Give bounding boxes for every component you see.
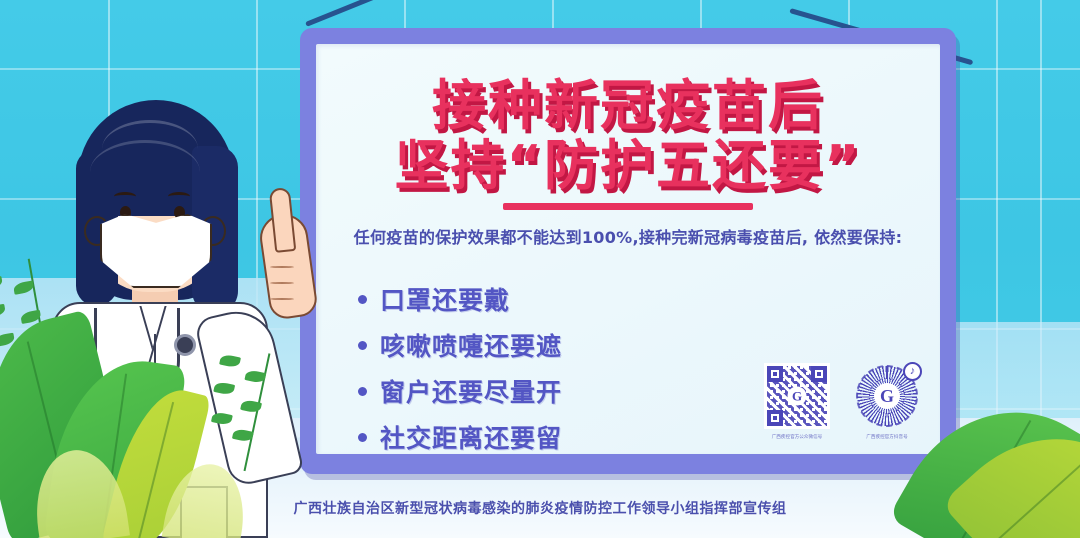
hand-knuckle-line xyxy=(270,298,294,300)
bullet-column-left: 口罩还要戴 咳嗽喷嚏还要遮 窗户还要尽量开 xyxy=(358,276,620,414)
qr-center-logo: G xyxy=(874,383,900,409)
headline-line-1: 接种新冠疫苗后 xyxy=(316,76,940,136)
bullet-dot-icon xyxy=(358,341,367,350)
bullet-column-right: 社交距离还要留 双手还要经常洗 xyxy=(358,414,614,454)
list-item-label: 社交距离还要留 xyxy=(380,419,562,454)
headline-underline xyxy=(503,203,753,210)
bullet-dot-icon xyxy=(358,295,367,304)
qr-caption: 广西疾控官方抖音号 xyxy=(853,433,921,439)
list-item-label: 咳嗽喷嚏还要遮 xyxy=(380,327,562,363)
hand-knuckle-line xyxy=(270,282,294,284)
qr-finder-top-right-icon xyxy=(811,366,827,382)
list-item: 窗户还要尽量开 xyxy=(358,368,620,414)
qr-caption: 广西疾控官方公众微信号 xyxy=(763,433,831,439)
music-note-icon: ♪ xyxy=(903,362,922,381)
list-item: 咳嗽喷嚏还要遮 xyxy=(358,322,620,368)
whiteboard: 接种新冠疫苗后 坚持“防护五还要” 任何疫苗的保护效果都不能达到100%,接种完… xyxy=(300,28,956,474)
qr-code-wechat[interactable]: G 广西疾控官方公众微信号 xyxy=(760,363,834,440)
subtitle-text: 任何疫苗的保护效果都不能达到100%,接种完新冠病毒疫苗后, 依然要保持: xyxy=(316,224,940,248)
headline-line-2: 坚持“防护五还要” xyxy=(316,136,940,196)
qr-code-image-icon[interactable]: G xyxy=(764,363,830,429)
bullet-dot-icon xyxy=(358,387,367,396)
qr-center-logo: G xyxy=(788,387,807,406)
qr-finder-top-left-icon xyxy=(767,366,783,382)
list-item-label: 窗户还要尽量开 xyxy=(380,373,562,409)
poster-root: 接种新冠疫苗后 坚持“防护五还要” 任何疫苗的保护效果都不能达到100%,接种完… xyxy=(0,0,1080,538)
whiteboard-face: 接种新冠疫苗后 坚持“防护五还要” 任何疫苗的保护效果都不能达到100%,接种完… xyxy=(316,44,940,454)
doctor-eyebrow-left xyxy=(114,192,136,201)
bullet-dot-icon xyxy=(358,433,367,442)
list-item: 口罩还要戴 xyxy=(358,276,620,322)
hand-knuckle-line xyxy=(270,266,294,268)
list-item-label: 口罩还要戴 xyxy=(380,281,510,317)
headline-block: 接种新冠疫苗后 坚持“防护五还要” xyxy=(316,76,940,210)
footer-attribution: 广西壮族自治区新型冠状病毒感染的肺炎疫情防控工作领导小组指挥部宣传组 xyxy=(0,498,1080,518)
stethoscope-bell xyxy=(174,334,196,356)
qr-code-douyin[interactable]: G ♪ 广西疾控官方抖音号 xyxy=(850,363,924,440)
qr-code-group: G 广西疾控官方公众微信号 G ♪ 广西疾控官方抖音号 xyxy=(760,363,924,440)
qr-code-round-image-icon[interactable]: G ♪ xyxy=(854,363,920,429)
qr-finder-bottom-left-icon xyxy=(767,410,783,426)
list-item: 社交距离还要留 xyxy=(358,414,614,454)
doctor-eyebrow-right xyxy=(168,192,190,201)
